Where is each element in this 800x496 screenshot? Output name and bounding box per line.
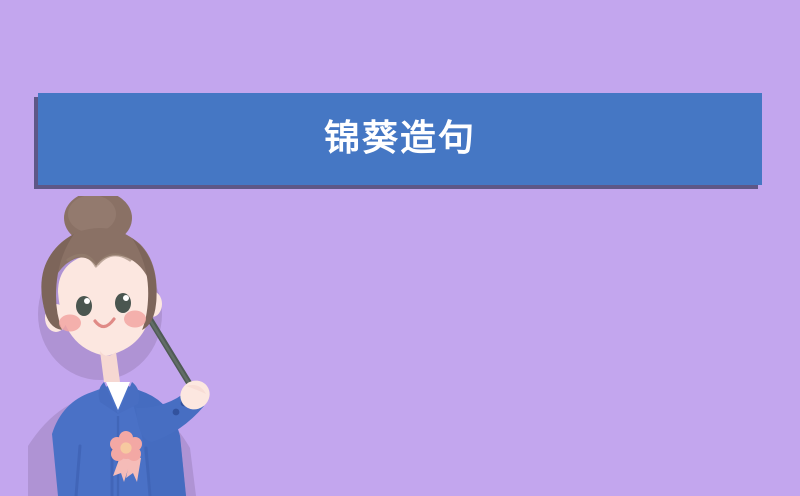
slide-canvas: 锦葵造句 — [0, 0, 800, 496]
title-banner: 锦葵造句 — [38, 93, 762, 185]
ribbon-badge-icon — [110, 431, 142, 482]
teacher-illustration — [0, 196, 300, 496]
page-title: 锦葵造句 — [324, 121, 476, 157]
